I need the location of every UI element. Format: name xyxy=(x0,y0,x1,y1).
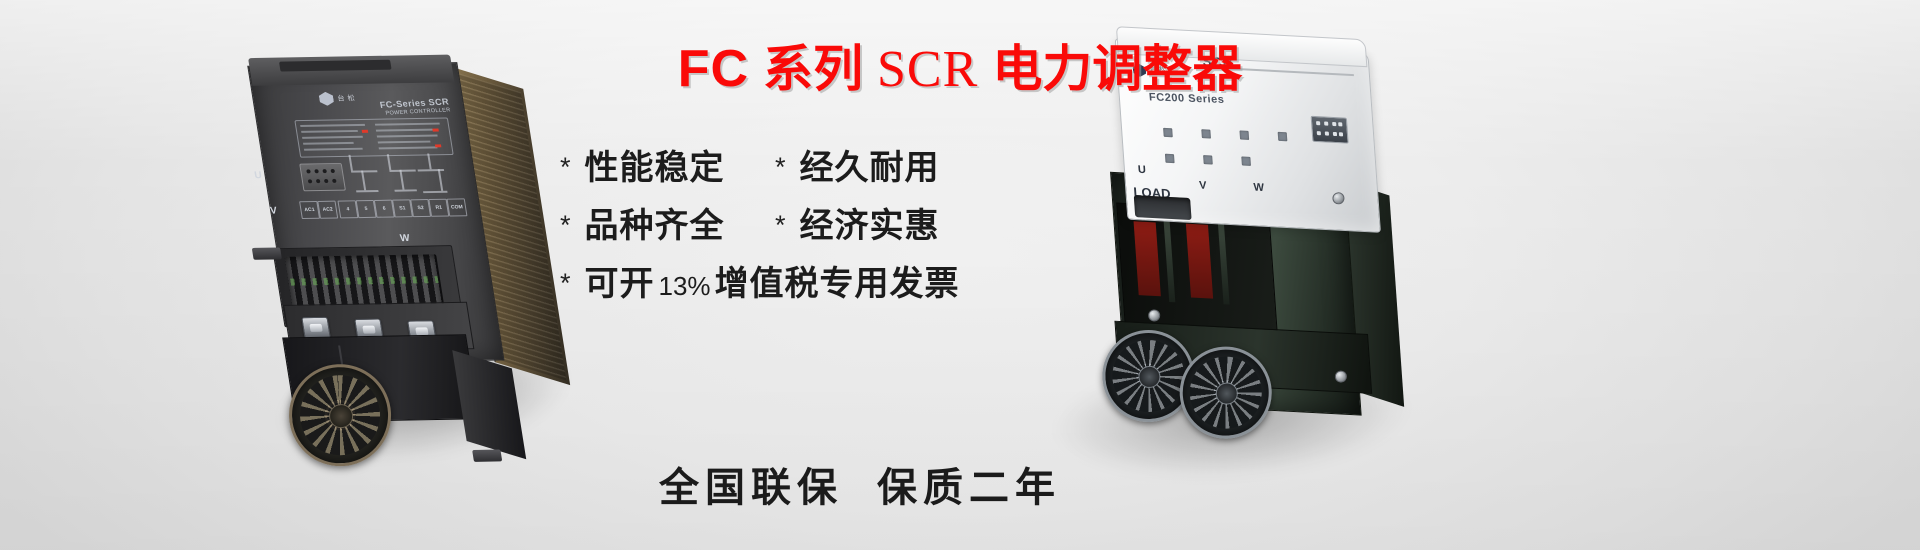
bullet-star-icon: * xyxy=(775,154,786,181)
feature-row-1: * 性能稳定 * 经久耐用 xyxy=(560,140,1040,198)
tax-prefix: 可开 xyxy=(585,256,655,305)
left-dip-switch xyxy=(299,163,346,191)
feature-item-invoice: * 可开 13% 增值税专用发票 xyxy=(560,256,960,305)
left-mount-tab-bottom xyxy=(472,450,502,462)
right-indicator-5 xyxy=(1165,154,1175,163)
bullet-star-icon: * xyxy=(560,212,571,239)
feature-label-stable: 性能稳定 xyxy=(585,140,725,189)
left-axis-v: V xyxy=(269,206,277,217)
feature-item-2: * 经久耐用 xyxy=(775,140,940,189)
right-indicator-1 xyxy=(1163,128,1173,137)
right-indicator-2 xyxy=(1201,129,1211,138)
bullet-star-icon: * xyxy=(775,212,786,239)
right-indicator-7 xyxy=(1241,156,1251,165)
title-product: 电力调整器 xyxy=(992,41,1242,97)
right-indicator-3 xyxy=(1239,130,1249,139)
title-series: 系列 xyxy=(763,41,863,97)
product-banner: 台 松 FC-Series SCR POWER CONTROLLER xyxy=(0,0,1920,550)
right-indicator-6 xyxy=(1203,155,1213,164)
left-axis-u: U xyxy=(254,170,263,181)
feature-row-2: * 品种齐全 * 经济实惠 xyxy=(560,198,1040,256)
feature-label-durable: 经久耐用 xyxy=(800,140,940,189)
left-front-panel: 台 松 FC-Series SCR POWER CONTROLLER xyxy=(266,82,474,253)
right-handle-slot xyxy=(1134,195,1192,220)
right-terminal-label-v: V xyxy=(1199,180,1207,192)
feature-item-4: * 经济实惠 xyxy=(775,198,940,247)
right-dip-switch xyxy=(1311,116,1349,144)
tagline-two-year: 保质二年 xyxy=(877,465,1061,510)
title-model: FC xyxy=(678,40,749,98)
feature-item-1: * 性能稳定 xyxy=(560,140,775,189)
right-terminal-label-u: U xyxy=(1138,164,1147,176)
left-terminal-com: COM xyxy=(446,198,467,216)
feature-list: * 性能稳定 * 经久耐用 * 品种齐全 * 经济实惠 * 可开 13% xyxy=(560,140,1040,314)
tax-rate: 13% xyxy=(655,271,715,302)
feature-label-variety: 品种齐全 xyxy=(585,198,725,247)
banner-title: FC系列SCR电力调整器 xyxy=(0,29,1920,101)
left-mount-tab-top xyxy=(252,247,282,259)
bullet-star-icon: * xyxy=(560,270,571,297)
left-axis-w: W xyxy=(399,233,410,244)
feature-label-economical: 经济实惠 xyxy=(800,198,940,247)
left-terminal-screw-1 xyxy=(301,317,331,339)
left-terminal-ac2: AC2 xyxy=(317,201,338,219)
left-terminal-row: AC1 AC2 4 5 6 S1 S2 R1 COM xyxy=(299,198,468,234)
right-indicator-4 xyxy=(1278,132,1288,141)
feature-item-3: * 品种齐全 xyxy=(560,198,775,247)
tagline-nationwide: 全国联保 xyxy=(659,465,843,510)
title-tech: SCR xyxy=(877,41,978,98)
bullet-star-icon: * xyxy=(560,154,571,181)
tax-suffix: 增值税专用发票 xyxy=(715,256,960,305)
warranty-tagline: 全国联保保质二年 xyxy=(560,455,1160,513)
feature-row-3: * 可开 13% 增值税专用发票 xyxy=(560,256,1040,314)
right-terminal-label-w: W xyxy=(1253,182,1264,195)
